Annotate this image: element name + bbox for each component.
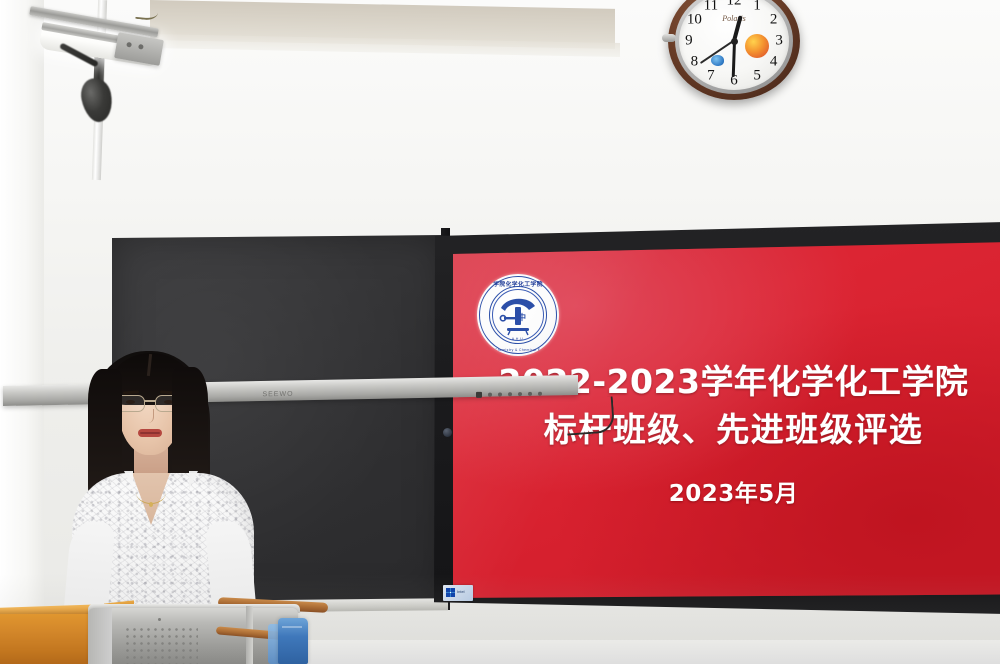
display-volup-key[interactable]	[508, 392, 512, 396]
lectern-speaker-grille	[124, 626, 198, 664]
clock-center-cap	[731, 38, 738, 45]
clock-numeral-10: 10	[687, 12, 702, 29]
clock-minute-hand	[731, 41, 735, 77]
display-home-key[interactable]	[528, 392, 532, 396]
slide-title: 2022-2023学年化学化工学院 标杆班级、先进班级评选	[453, 360, 1000, 451]
emblem-bottom-text: School of Chemistry & Chemical Engineeri…	[477, 348, 559, 352]
wall-left-panel	[0, 0, 44, 620]
wall-clock: Polaris 12 1 2 3 4 5 6 7 8 9 10 11	[668, 0, 800, 100]
display-back-key[interactable]	[538, 392, 542, 396]
clock-sun-decoration-icon	[745, 34, 769, 58]
necklace-pendant	[149, 502, 153, 507]
display-screen[interactable]: 学院化学化工学院 中 A.H.U. School of Chemistry & …	[453, 242, 1000, 598]
blue-chair	[278, 618, 308, 664]
emblem-center-glyph: 中	[518, 312, 526, 323]
clock-numeral-8: 8	[691, 53, 699, 70]
lectern-left-face	[88, 608, 112, 664]
classroom-photo: Polaris 12 1 2 3 4 5 6 7 8 9 10 11	[0, 0, 1000, 664]
clock-numeral-3: 3	[775, 33, 783, 50]
display-voldown-key[interactable]	[498, 392, 502, 396]
clock-numeral-4: 4	[770, 53, 778, 70]
display-menu-key[interactable]	[488, 393, 492, 397]
clock-numeral-9: 9	[685, 33, 693, 50]
mouth	[138, 429, 162, 437]
display-source-key[interactable]	[518, 392, 522, 396]
college-emblem: 学院化学化工学院 中 A.H.U. School of Chemistry & …	[477, 274, 559, 356]
display-control-buttons[interactable]	[476, 387, 572, 401]
clock-numeral-2: 2	[770, 12, 778, 29]
clock-numeral-7: 7	[707, 68, 715, 85]
display-power-key[interactable]	[476, 392, 482, 398]
slide-date: 2023年5月	[453, 474, 1000, 508]
clock-numeral-12: 12	[727, 0, 742, 9]
emblem-year-text: A.H.U.	[512, 337, 524, 341]
lectern-indicator-dot	[158, 618, 161, 621]
clock-numeral-1: 1	[753, 0, 761, 14]
clock-side-nub	[662, 34, 676, 42]
slide-title-line-2: 标杆班级、先进班级评选	[467, 408, 1000, 452]
clock-numeral-11: 11	[704, 0, 718, 14]
clock-bird-decoration-icon	[711, 55, 724, 66]
display-power-button[interactable]	[443, 428, 452, 437]
clock-numeral-5: 5	[753, 68, 761, 85]
clock-brand-label: Polaris	[722, 14, 746, 23]
smart-display[interactable]: 学院化学化工学院 中 A.H.U. School of Chemistry & …	[434, 222, 1000, 632]
floor-strip	[308, 640, 1000, 664]
necklace	[136, 481, 166, 504]
eye-left	[126, 400, 135, 404]
